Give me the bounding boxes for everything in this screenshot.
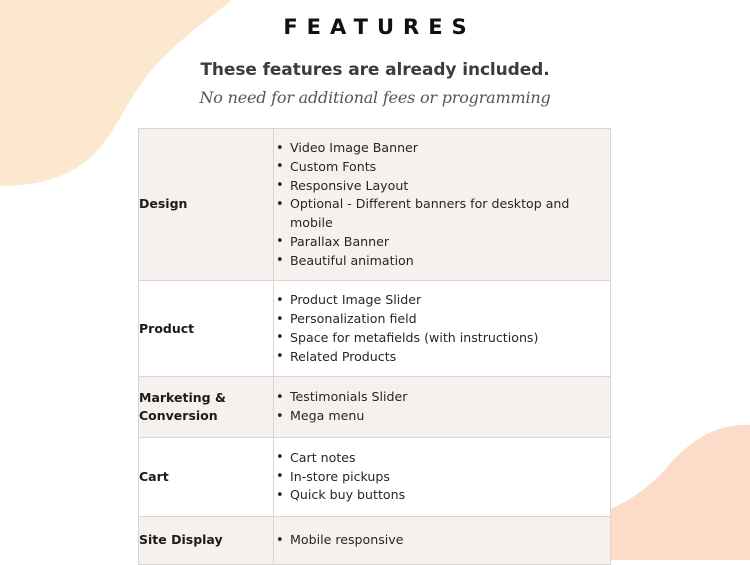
features-table: DesignVideo Image BannerCustom FontsResp… <box>138 128 611 565</box>
table-row: Site DisplayMobile responsive <box>139 517 611 565</box>
category-cell: Cart <box>139 437 274 516</box>
category-label: Design <box>139 195 273 214</box>
feature-list: Product Image SliderPersonalization fiel… <box>274 291 610 366</box>
feature-list-cell: Mobile responsive <box>274 517 611 565</box>
feature-list-item: Video Image Banner <box>274 139 610 158</box>
feature-list: Testimonials SliderMega menu <box>274 388 610 426</box>
feature-list-item: Parallax Banner <box>274 233 610 252</box>
table-row: Marketing & ConversionTestimonials Slide… <box>139 377 611 438</box>
table-row: CartCart notesIn-store pickupsQuick buy … <box>139 437 611 516</box>
category-cell: Product <box>139 281 274 377</box>
feature-list-item: Related Products <box>274 348 610 367</box>
feature-list-item: Mobile responsive <box>274 531 610 550</box>
category-cell: Site Display <box>139 517 274 565</box>
feature-list-item: Custom Fonts <box>274 158 610 177</box>
category-label: Product <box>139 320 273 339</box>
page-tagline: No need for additional fees or programmi… <box>0 88 750 107</box>
feature-list-item: Responsive Layout <box>274 177 610 196</box>
feature-list-item: Testimonials Slider <box>274 388 610 407</box>
category-cell: Marketing & Conversion <box>139 377 274 438</box>
feature-list-cell: Video Image BannerCustom FontsResponsive… <box>274 129 611 281</box>
category-label: Cart <box>139 468 273 487</box>
category-label: Marketing & Conversion <box>139 389 273 426</box>
table-row: DesignVideo Image BannerCustom FontsResp… <box>139 129 611 281</box>
feature-list: Mobile responsive <box>274 531 610 550</box>
feature-list-item: Optional - Different banners for desktop… <box>274 195 610 233</box>
feature-list-item: Mega menu <box>274 407 610 426</box>
category-label: Site Display <box>139 531 273 550</box>
category-cell: Design <box>139 129 274 281</box>
feature-list-item: Cart notes <box>274 449 610 468</box>
feature-list-item: Space for metafields (with instructions) <box>274 329 610 348</box>
feature-list-cell: Testimonials SliderMega menu <box>274 377 611 438</box>
feature-list-item: In-store pickups <box>274 468 610 487</box>
features-table-body: DesignVideo Image BannerCustom FontsResp… <box>139 129 611 565</box>
feature-list: Cart notesIn-store pickupsQuick buy butt… <box>274 449 610 505</box>
page-subtitle: These features are already included. <box>0 60 750 80</box>
feature-list-item: Personalization field <box>274 310 610 329</box>
feature-list-item: Product Image Slider <box>274 291 610 310</box>
page-title: FEATURES <box>0 16 750 39</box>
feature-list-cell: Product Image SliderPersonalization fiel… <box>274 281 611 377</box>
feature-list-item: Quick buy buttons <box>274 486 610 505</box>
feature-list: Video Image BannerCustom FontsResponsive… <box>274 139 610 270</box>
table-row: ProductProduct Image SliderPersonalizati… <box>139 281 611 377</box>
feature-list-cell: Cart notesIn-store pickupsQuick buy butt… <box>274 437 611 516</box>
header: FEATURES These features are already incl… <box>0 0 750 107</box>
feature-list-item: Beautiful animation <box>274 252 610 271</box>
